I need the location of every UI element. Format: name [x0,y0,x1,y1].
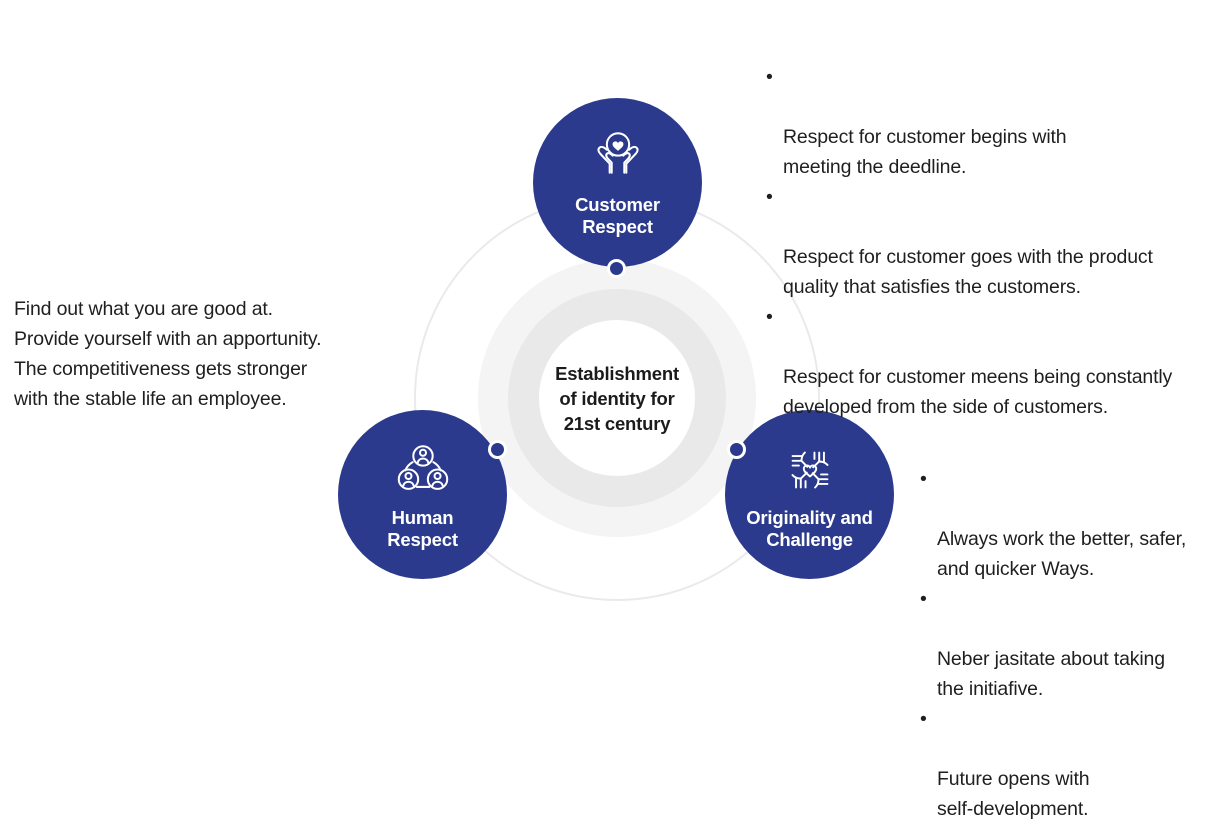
list-item: • Respect for customer meens being const… [766,302,1232,422]
hub-inner-circle: Establishment of identity for 21st centu… [539,320,695,476]
hub-label: Establishment of identity for 21st centu… [555,361,679,436]
list-item-text: Future opens with self-development. [937,768,1089,820]
node-originality-and-challenge[interactable]: Originality and Challenge [725,410,894,579]
four-hands-heart-icon [779,439,841,501]
text-line: Provide yourself with an apportunity. [14,324,374,354]
bullet-icon: • [920,704,927,734]
list-item: • Respect for customer goes with the pro… [766,182,1232,302]
list-item: • Future opens with self-development. [920,704,1232,824]
bullet-icon: • [766,182,773,212]
list-item-text: Neber jasitate about taking the initiafi… [937,648,1165,700]
bullet-icon: • [766,302,773,332]
list-item: • Respect for customer begins with meeti… [766,62,1232,182]
list-item: • Neber jasitate about taking the initia… [920,584,1232,704]
node-label: Originality and Challenge [746,507,873,551]
bullet-list: • Always work the better, safer, and qui… [920,464,1232,824]
list-item-text: Respect for customer goes with the produ… [783,246,1153,298]
connector-dot-customer-respect [607,259,626,278]
bullet-icon: • [920,464,927,494]
hands-holding-heart-icon [587,128,649,190]
text-block-human-respect: Find out what you are good at. Provide y… [14,294,374,414]
text-line: Find out what you are good at. [14,294,374,324]
bullet-list: • Respect for customer begins with meeti… [766,62,1232,422]
list-item: • Always work the better, safer, and qui… [920,464,1232,584]
node-human-respect[interactable]: Human Respect [338,410,507,579]
text-line: The competitiveness gets stronger with t… [14,354,374,414]
node-label: Human Respect [387,507,458,551]
node-customer-respect[interactable]: Customer Respect [533,98,702,267]
three-people-group-icon [392,439,454,501]
list-item-text: Respect for customer meens being constan… [783,366,1172,418]
connector-dot-originality-and-challenge [727,440,746,459]
bullet-icon: • [766,62,773,92]
list-item-text: Respect for customer begins with meeting… [783,126,1067,178]
text-block-customer-respect: • Respect for customer begins with meeti… [766,62,1232,422]
text-block-originality-and-challenge: • Always work the better, safer, and qui… [920,464,1232,824]
bullet-icon: • [920,584,927,614]
connector-dot-human-respect [488,440,507,459]
three-pillar-circular-diagram: Establishment of identity for 21st centu… [0,0,1232,751]
list-item-text: Always work the better, safer, and quick… [937,528,1186,580]
node-label: Customer Respect [575,194,660,238]
